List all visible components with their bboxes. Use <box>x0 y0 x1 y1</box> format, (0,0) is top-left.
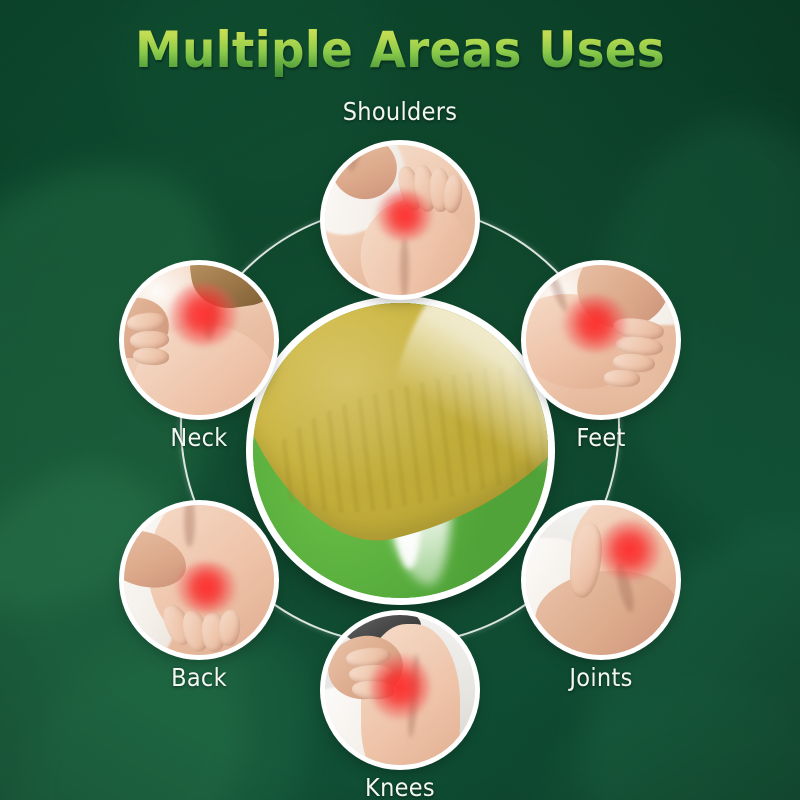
back-pain-photo <box>124 505 274 655</box>
center-product-circle <box>253 303 548 598</box>
node-label-neck: Neck <box>170 423 227 452</box>
node-label-back: Back <box>171 663 227 692</box>
node-feet[interactable]: Feet <box>526 265 676 415</box>
node-knees[interactable]: Knees <box>325 615 475 765</box>
node-label-feet: Feet <box>576 423 625 452</box>
node-label-knees: Knees <box>365 773 435 800</box>
photo-edge-shade <box>526 265 676 415</box>
shoulder-pain-photo <box>325 145 475 295</box>
knee-pain-photo <box>325 615 475 765</box>
node-label-shoulders: Shoulders <box>343 97 458 126</box>
poster-canvas: Multiple Areas Uses Shoulders <box>0 0 800 800</box>
joint-pain-photo <box>526 505 676 655</box>
node-back[interactable]: Back <box>124 505 274 655</box>
center-circle-sheen <box>253 303 548 598</box>
photo-edge-shade <box>526 505 676 655</box>
node-label-joints: Joints <box>569 663 632 692</box>
page-title: Multiple Areas Uses <box>24 24 776 77</box>
photo-edge-shade <box>124 505 274 655</box>
neck-pain-photo <box>124 265 274 415</box>
node-shoulders[interactable]: Shoulders <box>325 145 475 295</box>
photo-edge-shade <box>325 615 475 765</box>
node-joints[interactable]: Joints <box>526 505 676 655</box>
photo-edge-shade <box>325 145 475 295</box>
foot-pain-photo <box>526 265 676 415</box>
photo-edge-shade <box>124 265 274 415</box>
node-neck[interactable]: Neck <box>124 265 274 415</box>
background-leaf-shape <box>504 668 800 800</box>
